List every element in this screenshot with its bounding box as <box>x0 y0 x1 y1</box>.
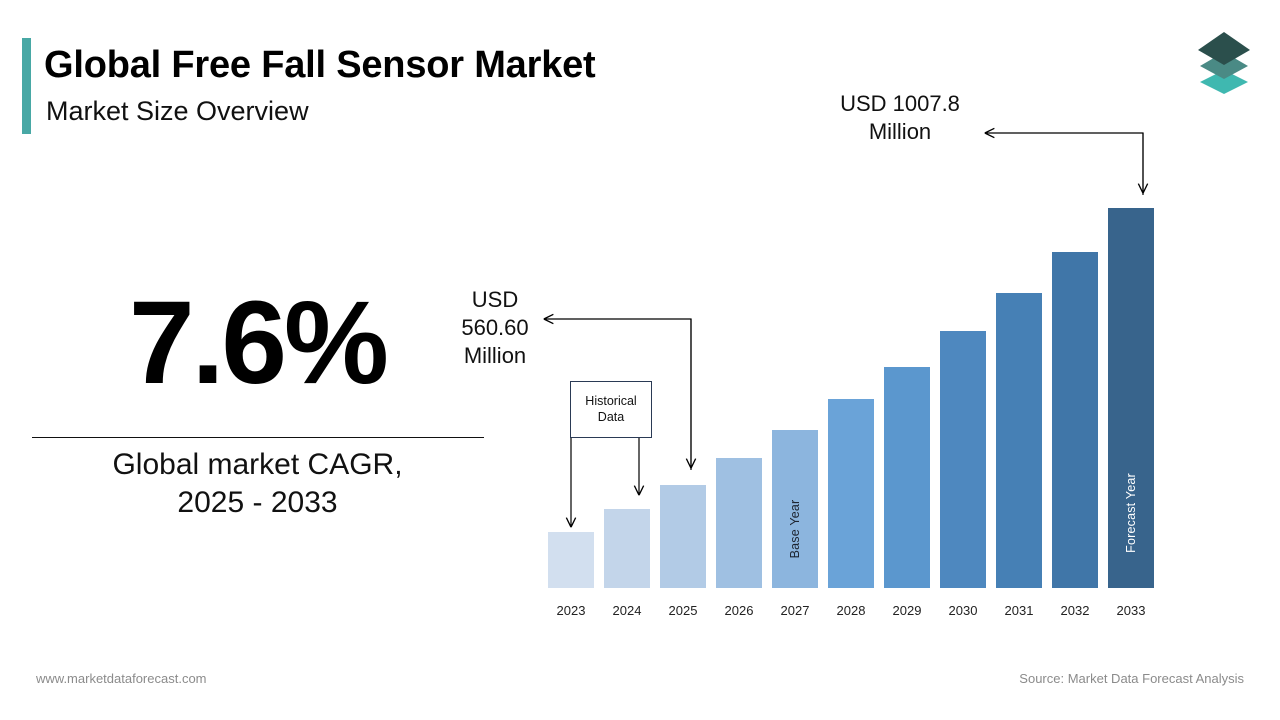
infographic-canvas: Global Free Fall Sensor Market Market Si… <box>0 0 1280 720</box>
bar-2031[interactable] <box>996 293 1042 588</box>
historical-data-line2: Data <box>585 410 636 426</box>
bar-label-2033: 2033 <box>1108 603 1154 618</box>
page-subtitle: Market Size Overview <box>46 96 309 127</box>
bar-label-2023: 2023 <box>548 603 594 618</box>
callout-end-value: USD 1007.8 Million <box>800 90 1000 146</box>
bar-2030[interactable] <box>940 331 986 588</box>
bar-label-2029: 2029 <box>884 603 930 618</box>
bar-label-2030: 2030 <box>940 603 986 618</box>
bar-label-2032: 2032 <box>1052 603 1098 618</box>
brand-logo-icon <box>1186 26 1262 98</box>
bar-2032[interactable] <box>1052 252 1098 588</box>
historical-data-line1: Historical <box>585 394 636 410</box>
cagr-value: 7.6% <box>30 282 485 406</box>
bar-2029[interactable] <box>884 367 930 588</box>
bar-2024[interactable] <box>604 509 650 588</box>
bar-label-2025: 2025 <box>660 603 706 618</box>
title-accent-bar <box>22 38 31 134</box>
bar-2033[interactable]: Forecast Year <box>1108 208 1154 588</box>
bar-label-2028: 2028 <box>828 603 874 618</box>
cagr-divider <box>32 437 484 438</box>
bar-2023[interactable] <box>548 532 594 588</box>
bar-2028[interactable] <box>828 399 874 588</box>
cagr-caption-line2: 2025 - 2033 <box>30 484 485 522</box>
bar-2027[interactable]: Base Year <box>772 430 818 588</box>
bar-2026[interactable] <box>716 458 762 588</box>
cagr-caption: Global market CAGR, 2025 - 2033 <box>30 446 485 523</box>
callout-end-line1: USD 1007.8 <box>800 90 1000 118</box>
bar-label-2031: 2031 <box>996 603 1042 618</box>
bar-2025[interactable] <box>660 485 706 588</box>
cagr-caption-line1: Global market CAGR, <box>30 446 485 484</box>
footer-website[interactable]: www.marketdataforecast.com <box>36 671 207 686</box>
bar-label-2026: 2026 <box>716 603 762 618</box>
bar-label-2024: 2024 <box>604 603 650 618</box>
bar-label-2027: 2027 <box>772 603 818 618</box>
page-title: Global Free Fall Sensor Market <box>44 44 596 87</box>
historical-data-callout-box: Historical Data <box>570 381 652 438</box>
callout-end-line2: Million <box>800 118 1000 146</box>
base-year-label: Base Year <box>788 500 802 559</box>
footer-source: Source: Market Data Forecast Analysis <box>1019 671 1244 686</box>
forecast-year-label: Forecast Year <box>1124 473 1138 553</box>
